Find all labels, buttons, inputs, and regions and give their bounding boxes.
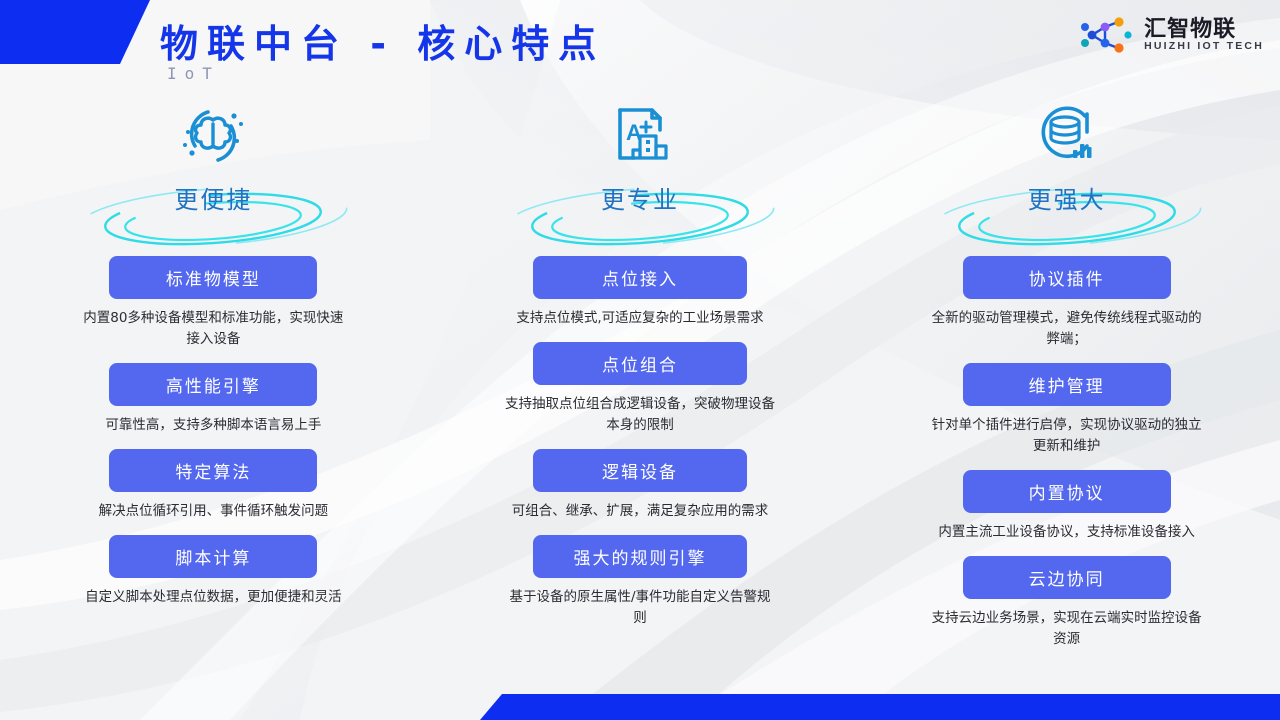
feature-column-powerful: 更强大 协议插件 全新的驱动管理模式，避免传统线程式驱动的弊端； 维护管理 针对… (853, 92, 1280, 720)
feature-card: 点位组合 支持抽取点位组合成逻辑设备，突破物理设备本身的限制 (427, 342, 854, 436)
page-title: 物联中台 - 核心特点 (160, 13, 605, 68)
feature-description: 自定义脚本处理点位数据，更加便捷和灵活 (80, 587, 346, 608)
column-header: 更便捷 (0, 92, 427, 242)
feature-card: 点位接入 支持点位模式,可适应复杂的工业场景需求 (427, 256, 854, 329)
feature-column-professional: A (427, 92, 854, 720)
feature-description: 解决点位循环引用、事件循环触发问题 (80, 501, 346, 522)
feature-card: 维护管理 针对单个插件进行启停，实现协议驱动的独立更新和维护 (853, 363, 1280, 457)
feature-pill[interactable]: 特定算法 (109, 449, 317, 492)
brain-gear-ai-icon (173, 96, 253, 181)
feature-pill[interactable]: 维护管理 (963, 363, 1171, 406)
feature-pill[interactable]: 云边协同 (963, 556, 1171, 599)
feature-card: 高性能引擎 可靠性高，支持多种脚本语言易上手 (0, 363, 427, 436)
brand-logo: 汇智物联 HUIZHI IOT TECH (1078, 14, 1264, 56)
feature-columns: 更便捷 标准物模型 内置80多种设备模型和标准功能，实现快速接入设备 高性能引擎… (0, 92, 1280, 720)
feature-column-convenient: 更便捷 标准物模型 内置80多种设备模型和标准功能，实现快速接入设备 高性能引擎… (0, 92, 427, 720)
feature-description: 支持云边业务场景，实现在云端实时监控设备资源 (931, 608, 1203, 650)
column-header: 更强大 (853, 92, 1280, 242)
column-title: 更专业 (601, 180, 679, 215)
feature-card: 逻辑设备 可组合、继承、扩展，满足复杂应用的需求 (427, 449, 854, 522)
feature-pill[interactable]: 逻辑设备 (533, 449, 747, 492)
feature-description: 可靠性高，支持多种脚本语言易上手 (80, 415, 346, 436)
feature-card: 协议插件 全新的驱动管理模式，避免传统线程式驱动的弊端； (853, 256, 1280, 350)
feature-pill[interactable]: 强大的规则引擎 (533, 535, 747, 578)
feature-card-list: 协议插件 全新的驱动管理模式，避免传统线程式驱动的弊端； 维护管理 针对单个插件… (853, 242, 1280, 649)
slide-header: 物联中台 - 核心特点 IoT 汇智物联 HUIZHI IOT TECH (0, 0, 1280, 90)
feature-description: 内置80多种设备模型和标准功能，实现快速接入设备 (80, 308, 346, 350)
feature-pill[interactable]: 高性能引擎 (109, 363, 317, 406)
feature-description: 内置主流工业设备协议，支持标准设备接入 (931, 522, 1203, 543)
column-title: 更便捷 (174, 180, 252, 215)
feature-description: 基于设备的原生属性/事件功能自定义告警规则 (504, 587, 776, 629)
feature-description: 针对单个插件进行启停，实现协议驱动的独立更新和维护 (931, 415, 1203, 457)
feature-card: 内置协议 内置主流工业设备协议，支持标准设备接入 (853, 470, 1280, 543)
feature-card: 脚本计算 自定义脚本处理点位数据，更加便捷和灵活 (0, 535, 427, 608)
column-header: A (427, 92, 854, 242)
document-a-plus-icon: A (600, 96, 680, 181)
feature-card: 特定算法 解决点位循环引用、事件循环触发问题 (0, 449, 427, 522)
molecule-network-icon (1078, 14, 1136, 56)
feature-pill[interactable]: 点位接入 (533, 256, 747, 299)
column-title: 更强大 (1028, 180, 1106, 215)
feature-pill[interactable]: 协议插件 (963, 256, 1171, 299)
feature-pill[interactable]: 内置协议 (963, 470, 1171, 513)
feature-card: 强大的规则引擎 基于设备的原生属性/事件功能自定义告警规则 (427, 535, 854, 629)
logo-name-cn: 汇智物联 (1144, 18, 1264, 41)
feature-description: 可组合、继承、扩展，满足复杂应用的需求 (504, 501, 776, 522)
feature-description: 支持点位模式,可适应复杂的工业场景需求 (504, 308, 776, 329)
feature-pill[interactable]: 标准物模型 (109, 256, 317, 299)
feature-card: 云边协同 支持云边业务场景，实现在云端实时监控设备资源 (853, 556, 1280, 650)
feature-pill[interactable]: 点位组合 (533, 342, 747, 385)
slide-canvas: 物联中台 - 核心特点 IoT 汇智物联 HUIZHI IOT TECH (0, 0, 1280, 720)
feature-description: 全新的驱动管理模式，避免传统线程式驱动的弊端； (931, 308, 1203, 350)
page-subtitle: IoT (167, 64, 220, 83)
logo-name-en: HUIZHI IOT TECH (1144, 41, 1264, 52)
feature-pill[interactable]: 脚本计算 (109, 535, 317, 578)
feature-card-list: 点位接入 支持点位模式,可适应复杂的工业场景需求 点位组合 支持抽取点位组合成逻… (427, 242, 854, 629)
feature-description: 支持抽取点位组合成逻辑设备，突破物理设备本身的限制 (504, 394, 776, 436)
feature-card: 标准物模型 内置80多种设备模型和标准功能，实现快速接入设备 (0, 256, 427, 350)
feature-card-list: 标准物模型 内置80多种设备模型和标准功能，实现快速接入设备 高性能引擎 可靠性… (0, 242, 427, 608)
database-chart-icon (1027, 96, 1107, 181)
